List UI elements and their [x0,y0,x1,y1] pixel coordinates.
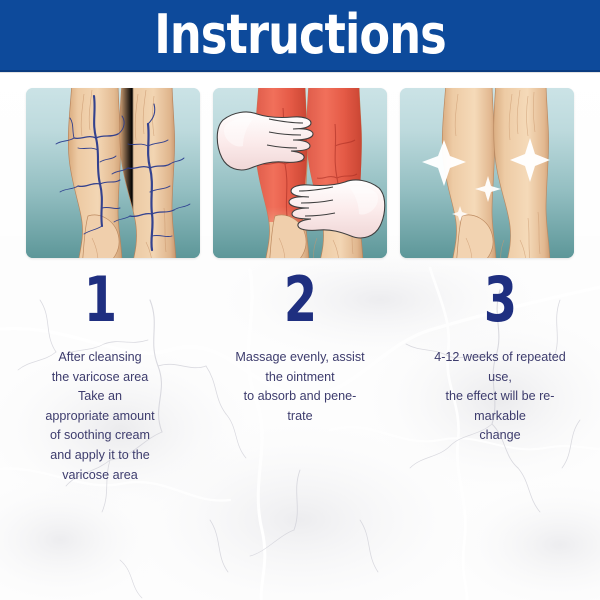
panel-row [0,88,600,260]
steps-row: 1 After cleansing the varicose area Take… [0,266,600,485]
panel-massage-application [213,88,387,258]
page-title: Instructions [24,0,576,72]
hands-massaging-legs-icon [213,88,387,258]
header-separator [0,72,600,73]
step-2-line-4: trate [200,407,400,427]
step-1-line-4: appropriate amount [0,407,200,427]
step-3-line-5: change [400,426,600,446]
step-1-line-5: of soothing cream [0,426,200,446]
step-2-line-1: Massage evenly, assist [200,348,400,368]
step-1-number: 1 [14,266,186,334]
step-3-line-1: 4-12 weeks of repeated [400,348,600,368]
hand-right-icon [289,180,385,238]
step-1-description: After cleansing the varicose area Take a… [0,348,200,485]
legs-with-veins-icon [26,88,200,258]
step-3-line-2: use, [400,368,600,388]
step-3-line-3: the effect will be re- [400,387,600,407]
step-3-line-4: markable [400,407,600,427]
step-1-line-7: varicose area [0,466,200,486]
step-3-number: 3 [414,266,586,334]
step-2: 2 Massage evenly, assist the ointment to… [200,266,400,485]
step-2-line-3: to absorb and pene- [200,387,400,407]
step-2-line-2: the ointment [200,368,400,388]
panel-clear-legs-after [400,88,574,258]
hand-left-icon [217,112,313,170]
step-3: 3 4-12 weeks of repeated use, the effect… [400,266,600,485]
step-1: 1 After cleansing the varicose area Take… [0,266,200,485]
step-1-line-6: and apply it to the [0,446,200,466]
legs-with-sparkles-icon [400,88,574,258]
instructions-page: Instructions [0,0,600,600]
step-3-description: 4-12 weeks of repeated use, the effect w… [400,348,600,446]
step-2-number: 2 [214,266,386,334]
step-2-description: Massage evenly, assist the ointment to a… [200,348,400,426]
panel-varicose-veins-before [26,88,200,258]
step-1-line-2: the varicose area [0,368,200,388]
step-1-line-1: After cleansing [0,348,200,368]
step-1-line-3: Take an [0,387,200,407]
